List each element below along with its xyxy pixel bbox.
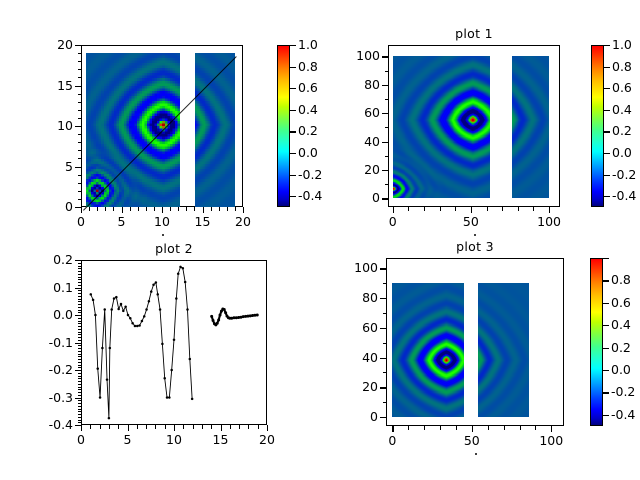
figure-canvas: 0510152005101520-0.4-0.20.00.20.40.60.81… xyxy=(0,0,640,480)
colorbar-tick xyxy=(603,303,609,304)
axis-tick xyxy=(424,426,425,430)
axis-tick xyxy=(383,402,387,403)
ytick-label: 40 xyxy=(362,351,378,364)
colorbar-label: 0.2 xyxy=(611,341,631,354)
axis-tick xyxy=(380,298,386,299)
colorbar-label: 0.6 xyxy=(611,297,631,310)
axis-tick xyxy=(383,313,387,314)
panel-title-bottom-right: plot 3 xyxy=(386,239,564,254)
colorbar-label: -0.2 xyxy=(611,386,635,399)
colorbar-tick xyxy=(603,415,609,416)
axis-tick xyxy=(380,387,386,388)
colorbar-label: 0.4 xyxy=(611,319,631,332)
axis-tick xyxy=(392,426,393,432)
colorbar-tick xyxy=(603,348,609,349)
xtick-label: 0 xyxy=(388,435,396,448)
colorbar-label: 0.0 xyxy=(611,364,631,377)
xtick-label: 50 xyxy=(464,435,480,448)
axis-tick xyxy=(472,426,473,432)
xtick-label: 100 xyxy=(539,435,563,448)
axis-tick xyxy=(380,328,386,329)
colorbar-label: -0.4 xyxy=(611,409,635,422)
axis-tick xyxy=(383,343,387,344)
ytick-label: 0 xyxy=(370,411,378,424)
colorbar-tick xyxy=(603,392,609,393)
axis-tick xyxy=(408,426,409,430)
axis-artifact-dot xyxy=(475,453,477,455)
ytick-label: 60 xyxy=(362,322,378,335)
axis-tick xyxy=(383,372,387,373)
axis-tick xyxy=(380,268,386,269)
axis-tick xyxy=(488,426,489,430)
heatmap-block-1 xyxy=(478,283,529,418)
ytick-label: 20 xyxy=(362,381,378,394)
axis-tick xyxy=(383,283,387,284)
ytick-label: 100 xyxy=(354,262,378,275)
axis-tick xyxy=(520,426,521,430)
axis-tick xyxy=(551,426,552,432)
panel-bottom-right: 050100020406080100plot 3-0.4-0.20.00.20.… xyxy=(0,0,640,480)
axis-tick xyxy=(504,426,505,430)
colorbar-bottom-right xyxy=(590,258,603,426)
axis-tick xyxy=(380,417,386,418)
heatmap-block-0 xyxy=(392,283,464,418)
axis-tick xyxy=(535,426,536,430)
colorbar-tick xyxy=(603,325,609,326)
ytick-label: 80 xyxy=(362,292,378,305)
axis-tick xyxy=(440,426,441,430)
colorbar-tick xyxy=(603,280,609,281)
axis-tick xyxy=(456,426,457,430)
colorbar-label: 0.8 xyxy=(611,274,631,287)
colorbar-tick xyxy=(603,370,609,371)
axis-tick xyxy=(380,358,386,359)
colorbar-tick xyxy=(603,258,609,259)
